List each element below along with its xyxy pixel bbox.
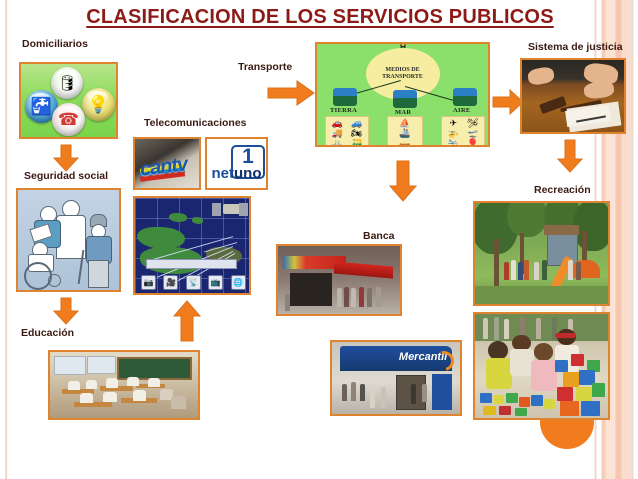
- label-banca: Banca: [363, 230, 395, 242]
- label-sistema-de-justicia: Sistema de justicia: [528, 41, 623, 53]
- transporte-node-mar: [393, 90, 417, 108]
- dish-icon: 📡: [186, 275, 201, 290]
- cantv-logo-text: cantv: [139, 153, 189, 182]
- arrow-to-transporte: [267, 78, 315, 108]
- transporte-items-aire: ✈🛩🚁🛫🛬🎈: [441, 116, 485, 146]
- globe-icon: 🌐: [231, 275, 246, 290]
- recreacion-image-2: [473, 312, 610, 420]
- label-transporte: Transporte: [238, 61, 292, 73]
- cantv-logo: cantv: [133, 137, 201, 190]
- slide-left-border: [0, 0, 12, 479]
- transporte-node-aire: [453, 88, 477, 106]
- transporte-node-tierra: [333, 88, 357, 106]
- bank-awning: [334, 261, 393, 278]
- arrow-seguridad-to-educacion: [52, 297, 80, 325]
- transporte-items-tierra: 🚗🚙🚚🏍🚲🛺: [325, 116, 369, 146]
- netuno-logo: 1 netuno: [205, 137, 268, 190]
- light-bulb-icon: 💡: [82, 88, 115, 121]
- satellite-map-image: 📷 🎥 📡 📺 🌐: [133, 196, 251, 295]
- telephone-icon: ☎: [52, 103, 85, 136]
- tv-icon: 📺: [208, 275, 223, 290]
- label-recreacion: Recreación: [534, 184, 591, 196]
- caption-mar: MAR: [395, 109, 411, 116]
- label-domiciliarios: Domiciliarios: [22, 38, 88, 50]
- sistema-de-justicia-image: [520, 58, 626, 134]
- video-icon: 🎥: [163, 275, 178, 290]
- page-title: CLASIFICACION DE LOS SERVICIOS PUBLICOS: [60, 6, 580, 29]
- educacion-image: [48, 350, 200, 420]
- arrow-transporte-to-banca: [388, 160, 418, 202]
- camera-icon: 📷: [141, 275, 156, 290]
- label-seguridad-social: Seguridad social: [24, 170, 108, 182]
- label-educacion: Educación: [21, 327, 74, 339]
- label-telecomunicaciones: Telecomunicaciones: [144, 117, 247, 129]
- caption-aire: AIRE: [453, 107, 470, 114]
- transporte-image: MEDIOS DE TRANSPORTE TIERRA MAR AIRE 🚗🚙🚚…: [315, 42, 490, 147]
- netuno-logo-text: netuno: [207, 165, 266, 182]
- arrow-domiciliarios-to-seguridad: [52, 144, 80, 172]
- recreacion-image-1: [473, 201, 610, 306]
- arrow-justicia-to-recreacion: [556, 139, 584, 173]
- seguridad-social-image: [16, 188, 121, 292]
- banca-image-2: Mercantil: [330, 340, 462, 416]
- gas-cylinder-icon: 🛢: [51, 67, 83, 99]
- caption-tierra: TIERRA: [330, 107, 357, 114]
- transporte-items-mar: ⛵🚢🛶: [387, 116, 423, 146]
- domiciliarios-image: 🚰 🛢 💡 ☎: [19, 62, 118, 139]
- arrow-telecom-up: [172, 300, 202, 342]
- banca-image-1: [276, 244, 402, 316]
